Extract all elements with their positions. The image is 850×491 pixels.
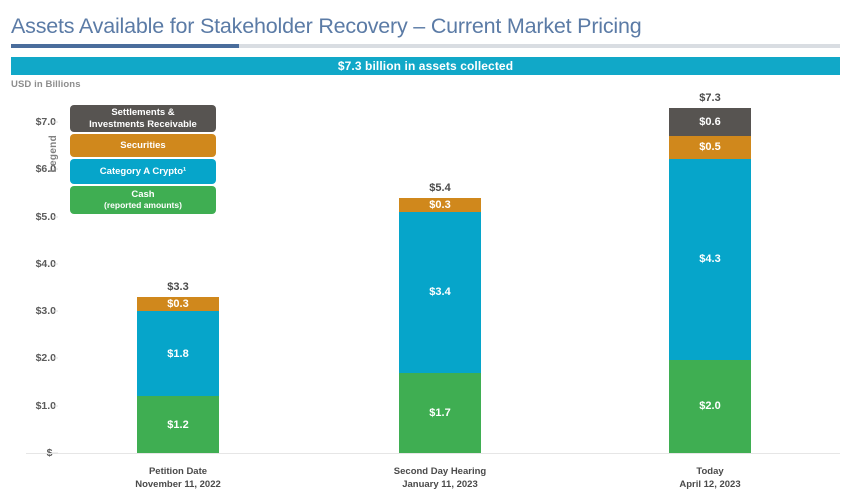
x-axis-category-date: April 12, 2023 — [639, 478, 781, 491]
legend-item-cash[interactable]: Cash (reported amounts) — [70, 186, 216, 214]
bar-segment[interactable]: $0.3 — [399, 198, 481, 212]
y-axis-tick-mark — [52, 311, 58, 312]
bar-segment[interactable]: $1.2 — [137, 396, 219, 453]
bar-stack[interactable]: $0.3$3.4$1.7 — [399, 198, 481, 453]
bar-segment[interactable]: $0.5 — [669, 136, 751, 159]
bar-segment[interactable]: $1.7 — [399, 373, 481, 453]
bar-group: $5.4$0.3$3.4$1.7Second Day HearingJanuar… — [399, 198, 481, 453]
bar-total-label: $5.4 — [399, 182, 481, 194]
stacked-bar-chart: $-$1.0$2.0$3.0$4.0$5.0$6.0$7.0 $3.3$0.3$… — [0, 0, 850, 486]
y-axis-tick-label: $2.0 — [10, 352, 56, 364]
legend-item-securities-label: Securities — [120, 140, 165, 152]
y-axis-tick-mark — [52, 453, 58, 454]
bar-segment[interactable]: $3.4 — [399, 212, 481, 373]
legend: Legend Settlements & Investments Receiva… — [50, 105, 216, 216]
legend-item-cash-label: Cash — [131, 189, 154, 201]
legend-item-settlements-sublabel: Investments Receivable — [89, 119, 197, 131]
y-axis-tick-mark — [52, 358, 58, 359]
legend-item-crypto[interactable]: Category A Crypto¹ — [70, 159, 216, 184]
x-axis-category-date: November 11, 2022 — [107, 478, 249, 491]
legend-item-cash-sublabel: (reported amounts) — [104, 200, 182, 212]
legend-title: Legend — [48, 135, 59, 172]
x-axis-category-name: Second Day Hearing — [369, 465, 511, 478]
x-axis-category-label: TodayApril 12, 2023 — [639, 465, 781, 491]
y-axis: $-$1.0$2.0$3.0$4.0$5.0$6.0$7.0 — [0, 0, 56, 486]
y-axis-tick-label: $1.0 — [10, 400, 56, 412]
bar-total-label: $7.3 — [669, 92, 751, 104]
x-axis-category-label: Second Day HearingJanuary 11, 2023 — [369, 465, 511, 491]
bar-segment[interactable]: $1.8 — [137, 311, 219, 396]
y-axis-tick-label: $3.0 — [10, 305, 56, 317]
bar-stack[interactable]: $0.6$0.5$4.3$2.0 — [669, 108, 751, 453]
x-axis-category-name: Today — [639, 465, 781, 478]
bar-total-label: $3.3 — [137, 281, 219, 293]
legend-item-settlements[interactable]: Settlements & Investments Receivable — [70, 105, 216, 132]
x-axis-category-label: Petition DateNovember 11, 2022 — [107, 465, 249, 491]
legend-item-securities[interactable]: Securities — [70, 134, 216, 157]
y-axis-tick-mark — [52, 263, 58, 264]
x-axis-category-name: Petition Date — [107, 465, 249, 478]
bar-group: $3.3$0.3$1.8$1.2Petition DateNovember 11… — [137, 297, 219, 453]
bar-segment[interactable]: $2.0 — [669, 360, 751, 453]
bar-segment[interactable]: $0.6 — [669, 108, 751, 136]
bar-segment[interactable]: $0.3 — [137, 297, 219, 311]
bar-group: $7.3$0.6$0.5$4.3$2.0TodayApril 12, 2023 — [669, 108, 751, 453]
y-axis-tick-label: $4.0 — [10, 258, 56, 270]
y-axis-tick-mark — [52, 216, 58, 217]
x-axis-category-date: January 11, 2023 — [369, 478, 511, 491]
bar-segment[interactable]: $4.3 — [669, 159, 751, 360]
legend-item-crypto-label: Category A Crypto¹ — [100, 166, 186, 178]
x-axis-baseline — [26, 453, 840, 454]
legend-item-settlements-label: Settlements & — [111, 107, 174, 119]
y-axis-tick-mark — [52, 405, 58, 406]
bar-stack[interactable]: $0.3$1.8$1.2 — [137, 297, 219, 453]
